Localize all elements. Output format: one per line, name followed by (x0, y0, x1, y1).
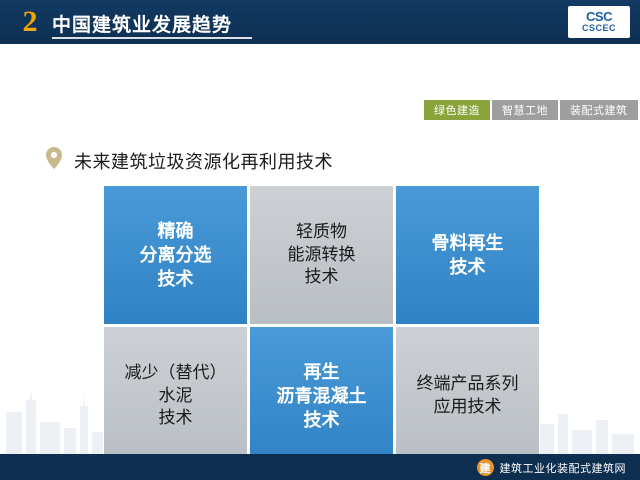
grid-cell-lightweight-energy[interactable]: 轻质物 能源转换 技术 (249, 185, 394, 325)
grid-cell-label: 轻质物 能源转换 技术 (288, 221, 356, 290)
grid-cell-label: 减少（替代） 水泥 技术 (125, 362, 227, 431)
slide-body: 绿色建造 智慧工地 装配式建筑 未来建筑垃圾资源化再利用技术 精确 分离分选 技… (0, 44, 640, 480)
watermark-label: 建筑工业化装配式建筑网 (500, 460, 627, 476)
grid-cell-cement-reduction[interactable]: 减少（替代） 水泥 技术 (103, 326, 248, 466)
title-underline (52, 37, 252, 39)
technology-grid: 精确 分离分选 技术 轻质物 能源转换 技术 骨料再生 技术 减少（替代） 水泥… (103, 185, 540, 466)
section-heading: 未来建筑垃圾资源化再利用技术 (74, 148, 333, 174)
watermark: 建 建筑工业化装配式建筑网 (477, 459, 627, 476)
company-logo: CSC CSCEC (568, 6, 630, 38)
tab-smart-site[interactable]: 智慧工地 (492, 100, 558, 120)
grid-cell-recycled-asphalt-concrete[interactable]: 再生 沥青混凝土 技术 (249, 326, 394, 466)
header-bar: 2 中国建筑业发展趋势 CSC CSCEC (0, 0, 640, 44)
grid-cell-terminal-products[interactable]: 终端产品系列 应用技术 (395, 326, 540, 466)
page-title: 中国建筑业发展趋势 (52, 10, 232, 37)
tab-prefab-building[interactable]: 装配式建筑 (560, 100, 638, 120)
slide-number: 2 (16, 5, 44, 39)
slide-root: 2 中国建筑业发展趋势 CSC CSCEC (0, 0, 640, 480)
logo-mark-text: CSC (586, 11, 612, 23)
tab-green-construction[interactable]: 绿色建造 (424, 100, 490, 120)
grid-cell-precise-separation[interactable]: 精确 分离分选 技术 (103, 185, 248, 325)
grid-cell-label: 精确 分离分选 技术 (140, 219, 212, 292)
grid-cell-label: 终端产品系列 应用技术 (417, 373, 519, 419)
watermark-logo-icon: 建 (477, 459, 494, 476)
tab-group[interactable]: 绿色建造 智慧工地 装配式建筑 (424, 100, 638, 120)
grid-cell-aggregate-regeneration[interactable]: 骨料再生 技术 (395, 185, 540, 325)
grid-cell-label: 骨料再生 技术 (432, 231, 504, 280)
location-pin-icon (46, 147, 62, 169)
logo-sub-text: CSCEC (582, 23, 616, 33)
grid-cell-label: 再生 沥青混凝土 技术 (277, 360, 367, 433)
